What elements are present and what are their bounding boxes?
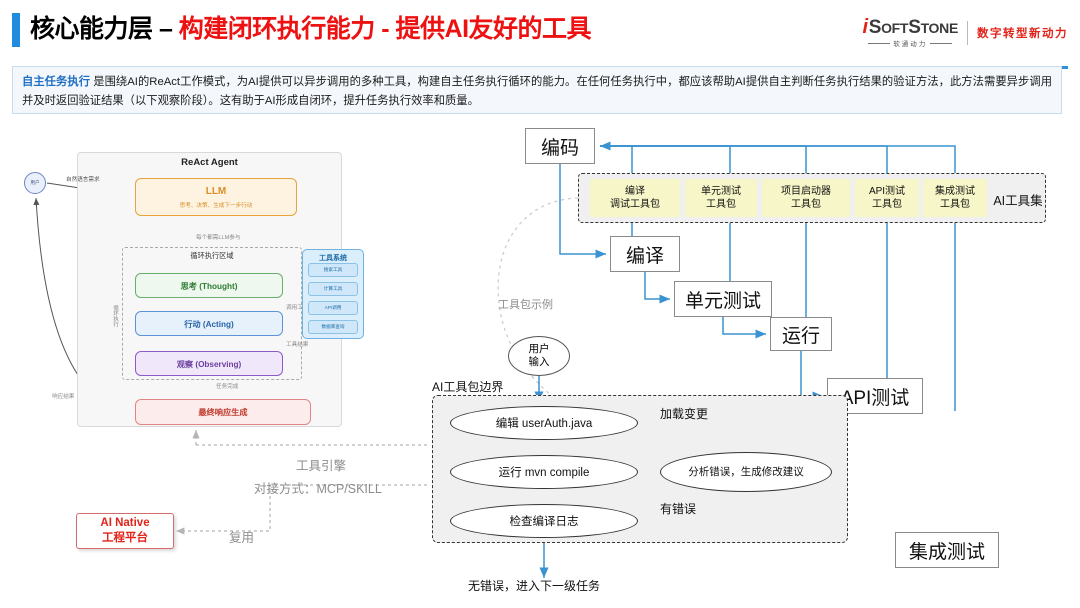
- tool-system-item-0: 搜索工具: [308, 263, 358, 277]
- toolkit-step-run: 运行 mvn compile: [450, 455, 638, 489]
- tool-system-item-2: API调用: [308, 301, 358, 315]
- pipeline-node-run: 运行: [770, 317, 832, 351]
- logo-stone-s: S: [908, 19, 920, 37]
- toolpack-2-line1: 项目启动器: [781, 185, 831, 198]
- user-node: 用户: [24, 172, 46, 194]
- user-input-node: 用户 输入: [508, 336, 570, 376]
- node-llm-subtitle: 思考、决策、生成下一步行动: [180, 201, 253, 209]
- banner-lead: 自主任务执行: [22, 76, 90, 88]
- isoftstone-logo: iSOFTSTONE 软通动力 数字转型新动力: [862, 14, 1068, 52]
- react-agent-title: ReAct Agent: [77, 157, 342, 168]
- logo-soft-s: S: [869, 19, 881, 37]
- logo-rule-left: [868, 43, 890, 44]
- edge-label-nl-request: 自然语言需求: [66, 175, 100, 183]
- ai-native-line2: 工程平台: [102, 531, 148, 546]
- logo-i-mark: i: [862, 18, 867, 36]
- label-reuse: 复用: [229, 527, 254, 546]
- logo-cn-text: 软通动力: [893, 38, 927, 48]
- pipeline-node-compile: 编译: [610, 236, 680, 272]
- tool-system-title: 工具系统: [302, 253, 364, 263]
- header-accent-bar: [12, 13, 20, 47]
- toolpack-2: 项目启动器 工具包: [762, 179, 850, 217]
- pipeline-node-integration-test: 集成测试: [895, 532, 999, 568]
- user-input-line1: 用户: [529, 343, 550, 356]
- toolpack-3-line2: 工具包: [872, 198, 902, 211]
- toolpack-0-line1: 编译: [625, 185, 645, 198]
- toolkit-step-analyze: 分析错误，生成修改建议: [660, 452, 832, 492]
- logo-rule-right: [930, 43, 952, 44]
- toolpack-4-line1: 集成测试: [935, 185, 975, 198]
- label-integration-mode: 对接方式：MCP/SKILL: [254, 478, 382, 497]
- toolkit-exit-label: 无错误，进入下一级任务: [468, 577, 600, 594]
- pipeline-node-coding: 编码: [525, 128, 595, 164]
- node-thought: 思考 (Thought): [135, 273, 283, 298]
- tool-system-item-3: 数据库查询: [308, 320, 358, 334]
- banner-body: 是围绕AI的ReAct工作模式，为AI提供可以异步调用的多种工具，构建自主任务执…: [22, 76, 1052, 107]
- edge-label-llm-involved: 每个都需LLM参与: [196, 233, 240, 241]
- toolpack-0: 编译 调试工具包: [590, 179, 680, 217]
- toolkit-step-edit: 编辑 userAuth.java: [450, 406, 638, 440]
- node-acting: 行动 (Acting): [135, 311, 283, 336]
- logo-tagline: 数字转型新动力: [977, 25, 1068, 41]
- logo-divider: [967, 21, 968, 45]
- user-input-line2: 输入: [529, 356, 550, 369]
- edge-label-has-error: 有错误: [660, 500, 696, 517]
- logo-word: iSOFTSTONE: [862, 18, 958, 37]
- pipeline-node-unit-test: 单元测试: [674, 281, 772, 317]
- node-llm: LLM 思考、决策、生成下一步行动: [135, 178, 297, 216]
- slide-root: 核心能力层 – 构建闭环执行能力 - 提供AI友好的工具 iSOFTSTONE …: [0, 0, 1080, 608]
- toolkit-boundary-label: AI工具包边界: [432, 378, 503, 395]
- ai-toolset-label: AI工具集: [990, 190, 1046, 209]
- toolpack-1: 单元测试 工具包: [685, 179, 757, 217]
- edge-label-tool-result: 工具结果: [286, 340, 308, 348]
- page-title-black: 核心能力层 –: [30, 15, 179, 43]
- slide-header: 核心能力层 – 构建闭环执行能力 - 提供AI友好的工具 iSOFTSTONE …: [0, 10, 1080, 52]
- tool-system-item-1: 计算工具: [308, 282, 358, 296]
- summary-banner: 自主任务执行 是围绕AI的ReAct工作模式，为AI提供可以异步调用的多种工具，…: [12, 66, 1062, 114]
- logo-stone-rest: TONE: [921, 19, 958, 37]
- edge-label-response: 响应结果: [52, 392, 74, 400]
- ai-native-platform-card: AI Native 工程平台: [76, 513, 174, 549]
- toolpack-4: 集成测试 工具包: [923, 179, 987, 217]
- toolkit-step-check: 检查编译日志: [450, 504, 638, 538]
- page-title: 核心能力层 – 构建闭环执行能力 - 提供AI友好的工具: [30, 10, 591, 48]
- logo-soft-rest: OFT: [881, 19, 908, 37]
- label-toolkit-example: 工具包示例: [498, 296, 553, 312]
- edge-label-load-change: 加载变更: [660, 405, 708, 422]
- node-observing: 观察 (Observing): [135, 351, 283, 376]
- toolpack-4-line2: 工具包: [940, 198, 970, 211]
- page-title-red: 构建闭环执行能力 - 提供AI友好的工具: [179, 15, 591, 43]
- toolpack-1-line1: 单元测试: [701, 185, 741, 198]
- toolpack-0-line2: 调试工具包: [610, 198, 660, 211]
- toolpack-3: API测试 工具包: [855, 179, 919, 217]
- edge-label-task-done: 任务完成: [216, 382, 238, 390]
- logo-wordmark: iSOFTSTONE 软通动力: [862, 18, 958, 48]
- logo-chinese-name: 软通动力: [868, 38, 952, 48]
- edge-label-loop: 循环执行: [111, 305, 119, 327]
- node-final-response: 最终响应生成: [135, 399, 311, 425]
- loop-zone-label: 循环执行区域: [122, 251, 302, 261]
- toolpack-1-line2: 工具包: [706, 198, 736, 211]
- toolpack-2-line2: 工具包: [791, 198, 821, 211]
- node-llm-title: LLM: [206, 186, 227, 197]
- label-tool-engine: 工具引擎: [296, 455, 346, 474]
- ai-native-line1: AI Native: [100, 516, 149, 531]
- toolpack-3-line1: API测试: [869, 185, 905, 198]
